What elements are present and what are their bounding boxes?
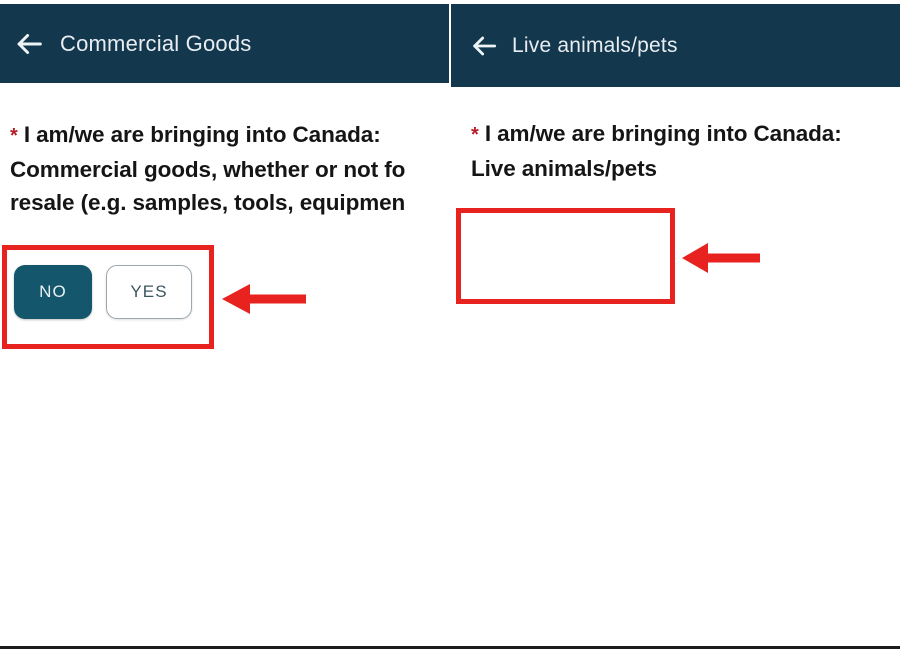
arrow-left-annotation-icon [222, 279, 306, 319]
question-line-2: Live animals/pets [471, 152, 842, 185]
arrow-left-icon[interactable] [12, 27, 46, 61]
question-line-3: resale (e.g. samples, tools, equipmen [10, 186, 405, 219]
required-asterisk: * [10, 125, 18, 147]
arrow-left-icon[interactable] [468, 30, 500, 62]
panel-divider [449, 4, 451, 88]
appbar-title: Live animals/pets [512, 34, 678, 58]
arrow-left-annotation-icon [682, 238, 760, 278]
appbar-commercial-goods: Commercial Goods [0, 4, 450, 83]
panel-commercial-goods: Commercial Goods * I am/we are bringing … [0, 0, 450, 650]
panel-live-animals-pets: Live animals/pets * I am/we are bringing… [450, 0, 900, 650]
question-line-1-text: I am/we are bringing into Canada: [24, 122, 381, 147]
screenshot-stage: Commercial Goods * I am/we are bringing … [0, 0, 900, 650]
no-button[interactable]: NO [14, 265, 92, 319]
yes-button[interactable]: YES [106, 265, 192, 319]
question-line-1: * I am/we are bringing into Canada: [10, 118, 405, 153]
required-asterisk: * [471, 124, 479, 146]
question-text-commercial-goods: * I am/we are bringing into Canada: Comm… [10, 118, 405, 219]
toggle-group-commercial-goods: NO YES [14, 265, 192, 319]
question-line-1-text: I am/we are bringing into Canada: [485, 121, 842, 146]
appbar-live-animals-pets: Live animals/pets [450, 4, 900, 87]
question-line-1: * I am/we are bringing into Canada: [471, 117, 842, 152]
question-line-2: Commercial goods, whether or not fo [10, 153, 405, 186]
question-text-live-animals-pets: * I am/we are bringing into Canada: Live… [471, 117, 842, 185]
appbar-title: Commercial Goods [60, 31, 251, 57]
bottom-rule [0, 646, 900, 649]
